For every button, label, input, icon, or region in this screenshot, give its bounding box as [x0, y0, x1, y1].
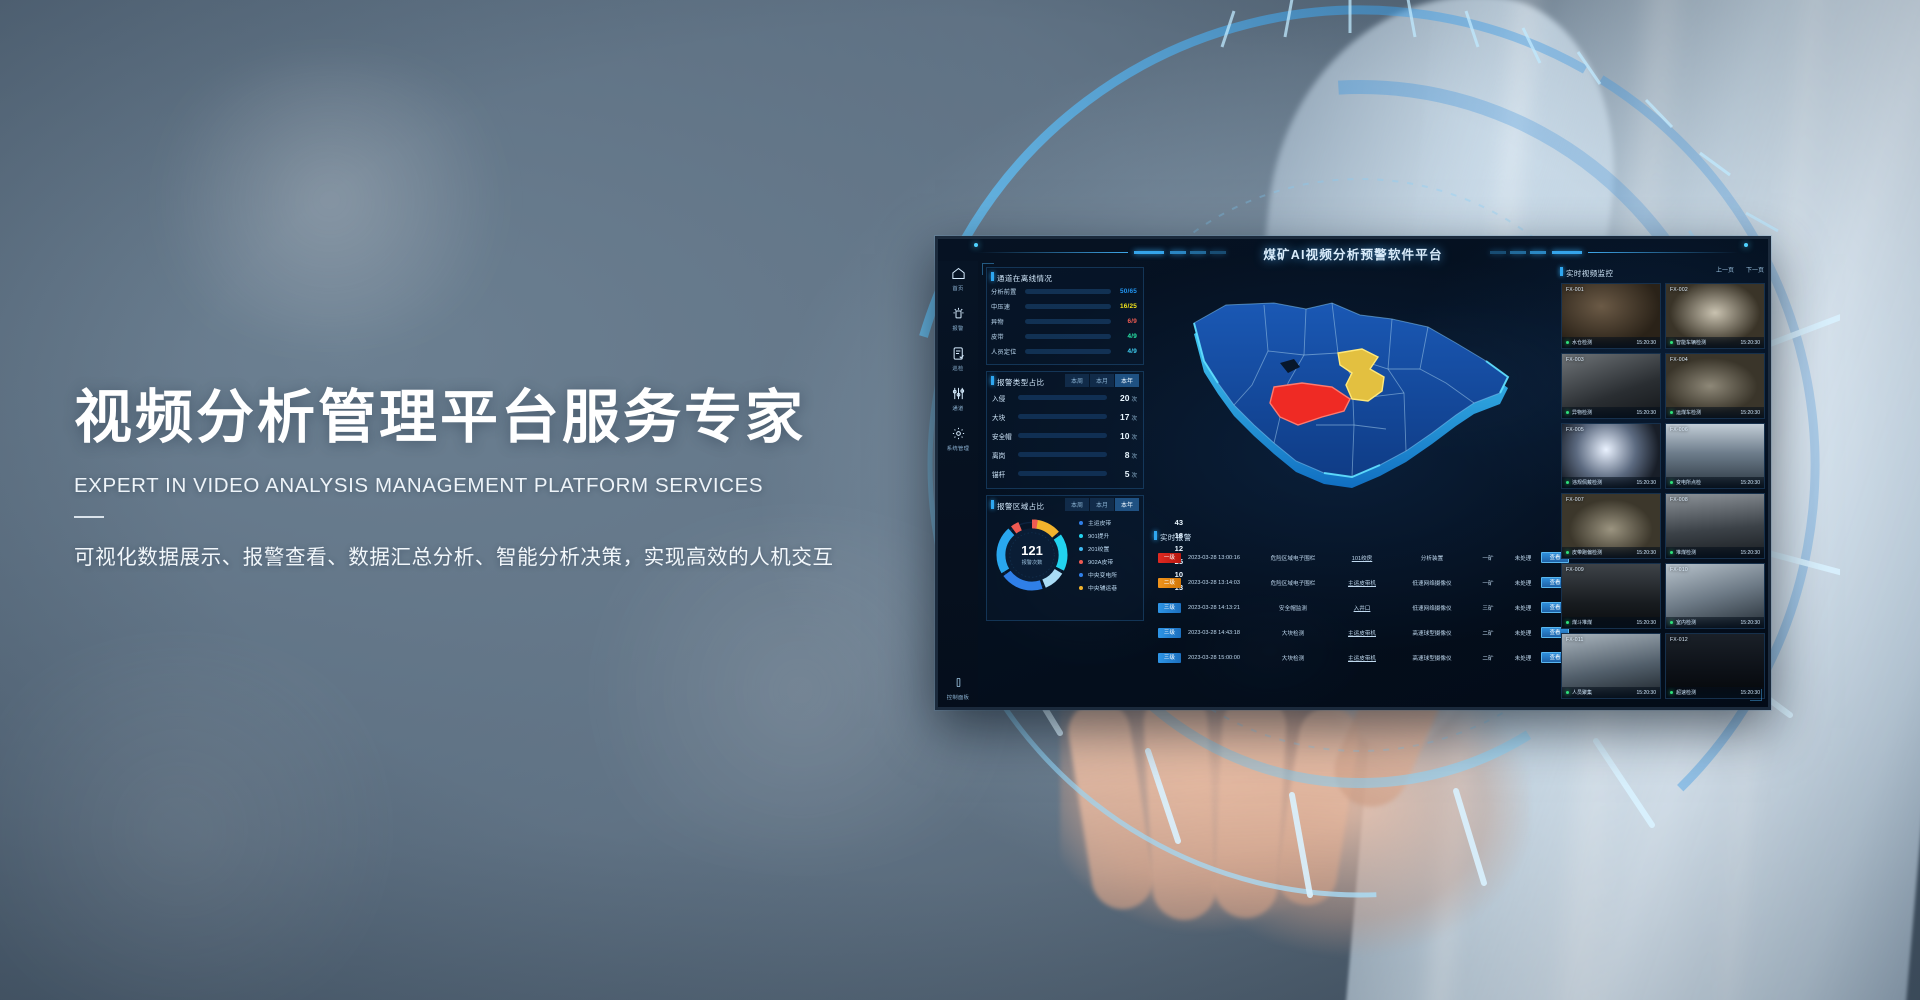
channel-bar-row: 异物6/9: [987, 314, 1143, 329]
sidebar-item-inspection[interactable]: 巡检: [938, 345, 978, 372]
panel-header: 实时视频监控 上一页 下一页: [1556, 263, 1770, 279]
inspection-icon: [938, 345, 978, 362]
channel-bar-row: 中压速16/25: [987, 299, 1143, 314]
header-dash: [1510, 251, 1526, 254]
alarm-grade: 二矿: [1471, 654, 1505, 662]
alarm-table: 一级2023-03-28 13:00:16危险区域电子围栏101绞房分析装置一矿…: [1150, 545, 1548, 670]
time-range-tabs[interactable]: 本周本月本年: [1065, 498, 1139, 511]
video-tile[interactable]: FX-006变电所点检15:20:30: [1665, 423, 1765, 489]
alarm-type-value: 10次: [1107, 431, 1137, 441]
sidebar: 首页 报警 巡检 通道 系统管理: [938, 261, 978, 710]
channel-bar-row: 分析前置50/65: [987, 284, 1143, 299]
sidebar-item-control-panel[interactable]: 控制面板: [938, 674, 978, 701]
legend-label: 主运皮带: [1088, 518, 1175, 527]
channel-value: 16/25: [1111, 303, 1137, 310]
region-map[interactable]: [1156, 265, 1546, 517]
alarm-icon: [938, 305, 978, 322]
status-badge: 二级: [1158, 578, 1181, 588]
video-tile-footer: 智能车辆检测15:20:30: [1666, 337, 1764, 348]
camera-timestamp: 15:20:30: [1741, 480, 1760, 486]
alarm-type-value: 5次: [1107, 469, 1137, 479]
live-indicator-icon: [1566, 411, 1569, 414]
video-tile[interactable]: FX-010室内检测15:20:30: [1665, 563, 1765, 629]
realtime-alarm-panel: 实时报警 一级2023-03-28 13:00:16危险区域电子围栏101绞房分…: [1150, 527, 1548, 707]
legend-color-dot: [1079, 586, 1083, 590]
dashboard-screen: 煤矿AI视频分析预警软件平台 首页 报警 巡检: [935, 236, 1771, 710]
alarm-type-row: 大块17次: [987, 407, 1143, 426]
channel-bar-track: [1025, 319, 1111, 324]
channel-bar-track: [1025, 334, 1111, 339]
live-indicator-icon: [1566, 691, 1569, 694]
camera-timestamp: 15:20:30: [1637, 690, 1656, 696]
channel-bar-list: 分析前置50/65中压速16/25异物6/9皮带4/9人员定位4/9: [987, 284, 1143, 359]
camera-name: 超速检测: [1676, 689, 1741, 696]
dashboard-title: 煤矿AI视频分析预警软件平台: [1263, 244, 1442, 263]
header-dash: [1210, 251, 1226, 254]
video-tile[interactable]: FX-005违规佩戴检测15:20:30: [1561, 423, 1661, 489]
header-line-left: [978, 252, 1128, 253]
table-row: 三级2023-03-28 14:13:21安全帽监测入井口低速网络摄像仪三矿未处…: [1150, 595, 1548, 620]
alarm-area[interactable]: 101绞房: [1331, 554, 1393, 562]
camera-name: 水仓检测: [1572, 339, 1637, 346]
camera-name: 堆煤检测: [1676, 549, 1741, 556]
camera-id: FX-010: [1670, 567, 1688, 573]
alarm-device: 高速球型摄像仪: [1393, 629, 1471, 637]
channel-value: 6/9: [1111, 318, 1137, 325]
alarm-type-unit: 次: [1131, 435, 1137, 441]
live-indicator-icon: [1670, 411, 1673, 414]
video-tile-footer: 变电所点检15:20:30: [1666, 477, 1764, 488]
alarm-type-value: 20次: [1107, 393, 1137, 403]
channel-value: 4/9: [1111, 333, 1137, 340]
camera-id: FX-008: [1670, 497, 1688, 503]
alarm-type: 安全帽监测: [1255, 604, 1331, 612]
channel-label: 人员定位: [991, 347, 1025, 356]
alarm-area-donut-chart: 121 报警次数: [995, 518, 1069, 592]
live-indicator-icon: [1566, 551, 1569, 554]
header-dash: [1490, 251, 1506, 254]
camera-name: 智能车辆检测: [1676, 339, 1741, 346]
camera-name: 运煤车检测: [1676, 409, 1741, 416]
camera-timestamp: 15:20:30: [1741, 550, 1760, 556]
panel-header: 实时报警: [1150, 527, 1548, 543]
header-dash: [1552, 251, 1582, 254]
tab-本月[interactable]: 本月: [1090, 498, 1114, 511]
alarm-type-label: 入侵: [992, 393, 1018, 403]
alarm-type-value: 17次: [1107, 412, 1137, 422]
header-dash: [1170, 251, 1186, 254]
channel-bar-track: [1025, 349, 1111, 354]
panel-title: 报警类型占比: [997, 378, 1044, 387]
camera-timestamp: 15:20:30: [1637, 410, 1656, 416]
video-tile-footer: 违规佩戴检测15:20:30: [1562, 477, 1660, 488]
sidebar-label: 系统管理: [938, 444, 978, 452]
alarm-type: 危险区域电子围栏: [1255, 579, 1331, 587]
alarm-type-track: [1018, 452, 1107, 457]
video-tile[interactable]: FX-001水仓检测15:20:30: [1561, 283, 1661, 349]
video-tile-footer: 皮带跑偏检测15:20:30: [1562, 547, 1660, 558]
sidebar-item-channel[interactable]: 通道: [938, 385, 978, 412]
alarm-type-panel: 报警类型占比 本周本月本年 入侵20次大块17次安全帽10次离岗8次锚杆5次: [986, 371, 1144, 489]
sidebar-label: 报警: [938, 324, 978, 332]
alarm-type-row: 入侵20次: [987, 388, 1143, 407]
panel-header: 报警类型占比 本周本月本年: [987, 372, 1143, 388]
camera-id: FX-011: [1566, 637, 1584, 643]
home-icon: [938, 265, 978, 282]
hero-description: 可视化数据展示、报警查看、数据汇总分析、智能分析决策，实现高效的人机交互: [74, 540, 904, 570]
alarm-type-label: 安全帽: [992, 431, 1018, 441]
panel-header: 通道在离线情况: [987, 268, 1143, 284]
alarm-type-row: 离岗8次: [987, 445, 1143, 464]
sidebar-label: 巡检: [938, 364, 978, 372]
camera-timestamp: 15:20:30: [1637, 340, 1656, 346]
frame-corner: [1750, 689, 1762, 701]
header-line-right: [1588, 252, 1738, 253]
status-badge: 三级: [1158, 603, 1181, 613]
alarm-time: 2023-03-28 13:00:16: [1181, 555, 1255, 561]
alarm-status: 未处理: [1505, 629, 1541, 637]
sidebar-item-alarm[interactable]: 报警: [938, 305, 978, 332]
video-tile[interactable]: FX-004运煤车检测15:20:30: [1665, 353, 1765, 419]
live-indicator-icon: [1670, 481, 1673, 484]
video-tile[interactable]: FX-003异物检测15:20:30: [1561, 353, 1661, 419]
alarm-status: 未处理: [1505, 554, 1541, 562]
frame-corner: [982, 263, 994, 275]
header-dash: [1530, 251, 1546, 254]
legend-color-dot: [1079, 521, 1083, 525]
video-tile[interactable]: FX-008堆煤检测15:20:30: [1665, 493, 1765, 559]
video-tile-footer: 室内检测15:20:30: [1666, 617, 1764, 628]
legend-color-dot: [1079, 534, 1083, 538]
camera-name: 违规佩戴检测: [1572, 479, 1637, 486]
alarm-status: 未处理: [1505, 654, 1541, 662]
channel-bar-track: [1025, 304, 1111, 309]
panel-title: 通道在离线情况: [997, 274, 1052, 283]
channel-label: 分析前置: [991, 287, 1025, 296]
camera-name: 变电所点检: [1676, 479, 1741, 486]
channel-status-panel: 通道在离线情况 分析前置50/65中压速16/25异物6/9皮带4/9人员定位4…: [986, 267, 1144, 365]
alarm-device: 低速网络摄像仪: [1393, 604, 1471, 612]
sidebar-label: 首页: [938, 284, 978, 292]
alarm-type: 大块检测: [1255, 629, 1331, 637]
alarm-status: 未处理: [1505, 579, 1541, 587]
alarm-status: 未处理: [1505, 604, 1541, 612]
alarm-grade: 一矿: [1471, 579, 1505, 587]
panel-title: 实时报警: [1160, 533, 1192, 542]
alarm-type-unit: 次: [1131, 416, 1137, 422]
alarm-area-panel: 报警区域占比 本周本月本年 121 报警次数: [986, 495, 1144, 621]
panel-icon: [938, 674, 978, 691]
header-dot: [1744, 243, 1748, 247]
alarm-type-label: 大块: [992, 412, 1018, 422]
alarm-area[interactable]: 主运皮带机: [1331, 579, 1393, 587]
alarm-grade: 三矿: [1471, 604, 1505, 612]
hero-subtitle: EXPERT IN VIDEO ANALYSIS MANAGEMENT PLAT…: [74, 474, 904, 498]
camera-id: FX-006: [1670, 427, 1688, 433]
alarm-type-row: 锚杆5次: [987, 464, 1143, 483]
next-page-button[interactable]: 下一页: [1746, 265, 1764, 274]
video-tile-footer: 异物检测15:20:30: [1562, 407, 1660, 418]
header-dash: [1134, 251, 1164, 254]
channel-bar-row: 皮带4/9: [987, 329, 1143, 344]
video-tile[interactable]: FX-002智能车辆检测15:20:30: [1665, 283, 1765, 349]
settings-icon: [938, 425, 978, 442]
hero-divider: [74, 516, 104, 518]
live-indicator-icon: [1566, 481, 1569, 484]
legend-value: 43: [1175, 518, 1183, 527]
alarm-type-row: 安全帽10次: [987, 426, 1143, 445]
alarm-grade: 二矿: [1471, 629, 1505, 637]
video-tile[interactable]: FX-011人员聚集15:20:30: [1561, 633, 1661, 699]
video-tile-footer: 运煤车检测15:20:30: [1666, 407, 1764, 418]
camera-timestamp: 15:20:30: [1741, 410, 1760, 416]
camera-timestamp: 15:20:30: [1741, 340, 1760, 346]
camera-timestamp: 15:20:30: [1637, 550, 1656, 556]
video-tile-footer: 人员聚集15:20:30: [1562, 687, 1660, 698]
alarm-device: 低速网络摄像仪: [1393, 579, 1471, 587]
video-tile[interactable]: FX-009煤斗堆煤15:20:30: [1561, 563, 1661, 629]
video-tile-footer: 水仓检测15:20:30: [1562, 337, 1660, 348]
camera-id: FX-005: [1566, 427, 1584, 433]
alarm-area[interactable]: 主运皮带机: [1331, 629, 1393, 637]
alarm-type-value: 8次: [1107, 450, 1137, 460]
table-row: 一级2023-03-28 13:00:16危险区域电子围栏101绞房分析装置一矿…: [1150, 545, 1548, 570]
legend-color-dot: [1079, 560, 1083, 564]
alarm-type-label: 离岗: [992, 450, 1018, 460]
alarm-time: 2023-03-28 15:00:00: [1181, 655, 1255, 661]
tab-本周[interactable]: 本周: [1065, 498, 1089, 511]
video-pagination: 上一页 下一页: [1716, 265, 1764, 274]
camera-name: 煤斗堆煤: [1572, 619, 1637, 626]
status-badge: 一级: [1158, 553, 1181, 563]
live-indicator-icon: [1670, 341, 1673, 344]
channel-label: 中压速: [991, 302, 1025, 311]
live-indicator-icon: [1566, 341, 1569, 344]
alarm-area[interactable]: 入井口: [1331, 604, 1393, 612]
alarm-type-label: 锚杆: [992, 469, 1018, 479]
time-range-tabs[interactable]: 本周本月本年: [1065, 374, 1139, 387]
camera-timestamp: 15:20:30: [1637, 480, 1656, 486]
alarm-type-track: [1018, 471, 1107, 476]
alarm-total-count: 121: [1006, 544, 1058, 558]
status-badge: 三级: [1158, 653, 1181, 663]
alarm-type: 危险区域电子围栏: [1255, 554, 1331, 562]
camera-id: FX-001: [1566, 287, 1584, 293]
table-row: 二级2023-03-28 13:14:03危险区域电子围栏主运皮带机低速网络摄像…: [1150, 570, 1548, 595]
camera-id: FX-002: [1670, 287, 1688, 293]
camera-name: 异物检测: [1572, 409, 1637, 416]
donut-center-label: 121 报警次数: [1006, 544, 1058, 566]
page-title: 视频分析管理平台服务专家: [74, 385, 904, 452]
live-indicator-icon: [1670, 621, 1673, 624]
alarm-total-caption: 报警次数: [1006, 559, 1058, 566]
tab-本月[interactable]: 本月: [1090, 374, 1114, 387]
video-monitor-panel: 实时视频监控 上一页 下一页 FX-001水仓检测15:20:30FX-002智…: [1556, 263, 1770, 707]
header-dot: [974, 243, 978, 247]
camera-name: 人员聚集: [1572, 689, 1637, 696]
sidebar-item-home[interactable]: 首页: [938, 265, 978, 292]
table-row: 三级2023-03-28 14:43:18大块检测主运皮带机高速球型摄像仪二矿未…: [1150, 620, 1548, 645]
hero-text-block: 视频分析管理平台服务专家 EXPERT IN VIDEO ANALYSIS MA…: [74, 385, 904, 570]
legend-color-dot: [1079, 547, 1083, 551]
sidebar-label: 通道: [938, 404, 978, 412]
panel-title: 实时视频监控: [1566, 269, 1613, 278]
channel-value: 50/65: [1111, 288, 1137, 295]
channel-label: 皮带: [991, 332, 1025, 341]
camera-name: 室内检测: [1676, 619, 1741, 626]
live-indicator-icon: [1566, 621, 1569, 624]
alarm-type-track: [1018, 395, 1107, 400]
camera-id: FX-007: [1566, 497, 1584, 503]
alarm-type-unit: 次: [1131, 454, 1137, 460]
camera-id: FX-009: [1566, 567, 1584, 573]
panel-title: 报警区域占比: [997, 502, 1044, 511]
channel-bar-row: 人员定位4/9: [987, 344, 1143, 359]
video-tile-footer: 煤斗堆煤15:20:30: [1562, 617, 1660, 628]
alarm-device: 分析装置: [1393, 554, 1471, 562]
tab-本年[interactable]: 本年: [1115, 374, 1139, 387]
alarm-time: 2023-03-28 14:43:18: [1181, 630, 1255, 636]
panel-header: 报警区域占比 本周本月本年: [987, 496, 1143, 512]
table-row: 三级2023-03-28 15:00:00大块检测主运皮带机高速球型摄像仪二矿未…: [1150, 645, 1548, 670]
legend-color-dot: [1079, 573, 1083, 577]
alarm-type-bar-list: 入侵20次大块17次安全帽10次离岗8次锚杆5次: [987, 388, 1143, 483]
camera-timestamp: 15:20:30: [1637, 620, 1656, 626]
prev-page-button[interactable]: 上一页: [1716, 265, 1734, 274]
alarm-grade: 一矿: [1471, 554, 1505, 562]
live-indicator-icon: [1670, 691, 1673, 694]
alarm-type-unit: 次: [1131, 397, 1137, 403]
alarm-type-unit: 次: [1131, 473, 1137, 479]
sidebar-label: 控制面板: [938, 693, 978, 701]
live-indicator-icon: [1670, 551, 1673, 554]
camera-id: FX-003: [1566, 357, 1584, 363]
tab-本年[interactable]: 本年: [1115, 498, 1139, 511]
alarm-type: 大块检测: [1255, 654, 1331, 662]
camera-timestamp: 15:20:30: [1741, 620, 1760, 626]
header-dash: [1190, 251, 1206, 254]
alarm-area[interactable]: 主运皮带机: [1331, 654, 1393, 662]
video-tile[interactable]: FX-007皮带跑偏检测15:20:30: [1561, 493, 1661, 559]
status-badge: 三级: [1158, 628, 1181, 638]
camera-id: FX-004: [1670, 357, 1688, 363]
camera-id: FX-012: [1670, 637, 1688, 643]
channel-value: 4/9: [1111, 348, 1137, 355]
tab-本周[interactable]: 本周: [1065, 374, 1089, 387]
alarm-type-track: [1018, 414, 1107, 419]
alarm-time: 2023-03-28 14:13:21: [1181, 605, 1255, 611]
channel-label: 异物: [991, 317, 1025, 326]
channel-bar-track: [1025, 289, 1111, 294]
channel-icon: [938, 385, 978, 402]
video-tile-footer: 堆煤检测15:20:30: [1666, 547, 1764, 558]
camera-name: 皮带跑偏检测: [1572, 549, 1637, 556]
alarm-type-track: [1018, 433, 1107, 438]
alarm-time: 2023-03-28 13:14:03: [1181, 580, 1255, 586]
sidebar-item-settings[interactable]: 系统管理: [938, 425, 978, 452]
video-tile-grid: FX-001水仓检测15:20:30FX-002智能车辆检测15:20:30FX…: [1561, 283, 1765, 699]
alarm-device: 高速球型摄像仪: [1393, 654, 1471, 662]
